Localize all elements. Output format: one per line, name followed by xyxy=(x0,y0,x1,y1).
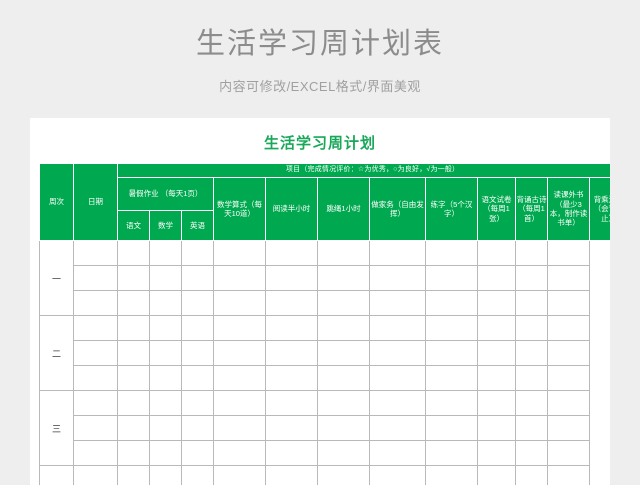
date-cell[interactable] xyxy=(74,441,118,466)
table-row xyxy=(40,291,611,316)
data-cell[interactable] xyxy=(426,466,478,485)
data-cell[interactable] xyxy=(266,416,318,441)
table-row xyxy=(40,366,611,391)
data-cell[interactable] xyxy=(370,266,426,291)
data-cell[interactable] xyxy=(426,291,478,316)
data-cell[interactable] xyxy=(478,366,516,391)
data-cell[interactable] xyxy=(182,466,214,485)
data-cell[interactable] xyxy=(426,441,478,466)
data-cell[interactable] xyxy=(214,316,266,341)
data-cell[interactable] xyxy=(516,416,548,441)
data-cell[interactable] xyxy=(118,291,150,316)
data-cell[interactable] xyxy=(516,316,548,341)
spreadsheet-sheet: 生活学习周计划 周次 日期 xyxy=(30,118,610,485)
header-col-chinese-paper: 语文试卷（每周1张） xyxy=(478,178,516,241)
header-sub-english: 英语 xyxy=(182,210,214,240)
page-title: 生活学习周计划表 xyxy=(0,26,640,64)
data-cell[interactable] xyxy=(478,441,516,466)
date-cell[interactable] xyxy=(74,341,118,366)
sheet-title: 生活学习周计划 xyxy=(30,118,610,163)
data-cell[interactable] xyxy=(478,241,516,266)
data-cell[interactable] xyxy=(318,241,370,266)
page-subtitle: 内容可修改/EXCEL格式/界面美观 xyxy=(0,76,640,95)
data-cell[interactable] xyxy=(370,316,426,341)
data-cell[interactable] xyxy=(214,391,266,416)
data-cell[interactable] xyxy=(370,416,426,441)
header-date: 日期 xyxy=(74,164,118,241)
date-cell[interactable] xyxy=(74,266,118,291)
data-cell[interactable] xyxy=(516,366,548,391)
data-cell[interactable] xyxy=(182,441,214,466)
data-cell[interactable] xyxy=(516,341,548,366)
data-cell[interactable] xyxy=(548,316,590,341)
data-cell[interactable] xyxy=(118,316,150,341)
table-row: 三 xyxy=(40,391,611,416)
data-cell[interactable] xyxy=(426,416,478,441)
data-cell[interactable] xyxy=(478,266,516,291)
data-cell[interactable] xyxy=(548,241,590,266)
header-group-homework: 暑假作业 （每天1页） xyxy=(118,178,214,211)
header-project-group: 项目（完成情况评价：☆为优秀，○为良好，√为一般） xyxy=(118,164,611,178)
data-cell[interactable] xyxy=(548,341,590,366)
data-cell[interactable] xyxy=(118,266,150,291)
data-cell[interactable] xyxy=(182,316,214,341)
header-col-math: 数学算式（每天10道） xyxy=(214,178,266,241)
data-cell[interactable] xyxy=(266,316,318,341)
data-cell[interactable] xyxy=(214,441,266,466)
data-cell[interactable] xyxy=(548,266,590,291)
table-row xyxy=(40,441,611,466)
date-cell[interactable] xyxy=(74,391,118,416)
data-cell[interactable] xyxy=(478,291,516,316)
data-cell[interactable] xyxy=(118,341,150,366)
data-cell[interactable] xyxy=(266,341,318,366)
data-cell[interactable] xyxy=(182,291,214,316)
data-cell[interactable] xyxy=(150,291,182,316)
data-cell[interactable] xyxy=(516,391,548,416)
header-col-reading: 阅读半小时 xyxy=(266,178,318,241)
header-col-rope: 跳绳1小时 xyxy=(318,178,370,241)
data-cell[interactable] xyxy=(318,416,370,441)
data-cell[interactable] xyxy=(370,341,426,366)
data-cell[interactable] xyxy=(118,416,150,441)
data-cell[interactable] xyxy=(182,266,214,291)
week-label: 二 xyxy=(40,316,74,391)
data-cell[interactable] xyxy=(478,466,516,485)
data-cell[interactable] xyxy=(150,441,182,466)
data-cell[interactable] xyxy=(150,241,182,266)
data-cell[interactable] xyxy=(548,416,590,441)
table-row xyxy=(40,416,611,441)
data-cell[interactable] xyxy=(118,241,150,266)
table-header-row-groups: 暑假作业 （每天1页） 数学算式（每天10道） 阅读半小时 跳绳1小时 做家务（… xyxy=(40,178,611,211)
data-cell[interactable] xyxy=(214,241,266,266)
data-cell[interactable] xyxy=(370,241,426,266)
header-col-chores: 做家务（自由发挥） xyxy=(370,178,426,241)
date-cell[interactable] xyxy=(74,466,118,485)
data-cell[interactable] xyxy=(266,466,318,485)
data-cell[interactable] xyxy=(318,266,370,291)
data-cell[interactable] xyxy=(214,366,266,391)
data-cell[interactable] xyxy=(548,366,590,391)
data-cell[interactable] xyxy=(426,341,478,366)
week-label: 一 xyxy=(40,241,74,316)
data-cell[interactable] xyxy=(548,441,590,466)
poster-header: 生活学习周计划表 内容可修改/EXCEL格式/界面美观 xyxy=(0,0,640,95)
data-cell[interactable] xyxy=(150,366,182,391)
data-cell[interactable] xyxy=(150,341,182,366)
data-cell[interactable] xyxy=(370,391,426,416)
data-cell[interactable] xyxy=(182,241,214,266)
header-sub-math: 数学 xyxy=(150,210,182,240)
header-col-multiplication: 背乘法表（会背为止） xyxy=(590,178,611,241)
data-cell[interactable] xyxy=(516,466,548,485)
data-cell[interactable] xyxy=(318,441,370,466)
data-cell[interactable] xyxy=(214,416,266,441)
data-cell[interactable] xyxy=(150,391,182,416)
table-row xyxy=(40,266,611,291)
data-cell[interactable] xyxy=(150,416,182,441)
date-cell[interactable] xyxy=(74,366,118,391)
data-cell[interactable] xyxy=(266,291,318,316)
date-cell[interactable] xyxy=(74,291,118,316)
data-cell[interactable] xyxy=(118,441,150,466)
data-cell[interactable] xyxy=(516,291,548,316)
data-cell[interactable] xyxy=(266,441,318,466)
data-cell[interactable] xyxy=(426,241,478,266)
data-cell[interactable] xyxy=(426,316,478,341)
header-week: 周次 xyxy=(40,164,74,241)
data-cell[interactable] xyxy=(426,266,478,291)
table-row: 二 xyxy=(40,316,611,341)
data-cell[interactable] xyxy=(548,291,590,316)
data-cell[interactable] xyxy=(182,341,214,366)
multiplication-merged-cell[interactable] xyxy=(590,241,611,485)
data-cell[interactable] xyxy=(266,366,318,391)
header-col-handwriting: 练字（5个汉字） xyxy=(426,178,478,241)
data-cell[interactable] xyxy=(214,341,266,366)
data-cell[interactable] xyxy=(214,291,266,316)
data-cell[interactable] xyxy=(266,266,318,291)
data-cell[interactable] xyxy=(478,341,516,366)
data-cell[interactable] xyxy=(516,266,548,291)
data-cell[interactable] xyxy=(182,416,214,441)
data-cell[interactable] xyxy=(516,441,548,466)
week-label: 四 xyxy=(40,466,74,485)
data-cell[interactable] xyxy=(318,316,370,341)
header-col-extra-books: 读课外书（最少3本，制作读书单） xyxy=(548,178,590,241)
date-cell[interactable] xyxy=(74,316,118,341)
weekly-plan-table: 周次 日期 项目（完成情况评价：☆为优秀，○为良好，√为一般） 暑假作业 （每天… xyxy=(39,163,610,485)
table-row: 四 xyxy=(40,466,611,485)
data-cell[interactable] xyxy=(118,391,150,416)
data-cell[interactable] xyxy=(478,416,516,441)
data-cell[interactable] xyxy=(150,266,182,291)
date-cell[interactable] xyxy=(74,241,118,266)
data-cell[interactable] xyxy=(370,466,426,485)
data-cell[interactable] xyxy=(370,366,426,391)
data-cell[interactable] xyxy=(214,266,266,291)
data-cell[interactable] xyxy=(426,391,478,416)
data-cell[interactable] xyxy=(370,291,426,316)
data-cell[interactable] xyxy=(478,391,516,416)
data-cell[interactable] xyxy=(182,391,214,416)
data-cell[interactable] xyxy=(318,291,370,316)
data-cell[interactable] xyxy=(118,466,150,485)
data-cell[interactable] xyxy=(548,466,590,485)
week-label: 三 xyxy=(40,391,74,466)
data-cell[interactable] xyxy=(318,341,370,366)
data-cell[interactable] xyxy=(150,316,182,341)
data-cell[interactable] xyxy=(214,466,266,485)
data-cell[interactable] xyxy=(426,366,478,391)
data-cell[interactable] xyxy=(318,366,370,391)
data-cell[interactable] xyxy=(118,366,150,391)
table-header-row-project: 周次 日期 项目（完成情况评价：☆为优秀，○为良好，√为一般） xyxy=(40,164,611,178)
data-cell[interactable] xyxy=(318,391,370,416)
data-cell[interactable] xyxy=(266,391,318,416)
date-cell[interactable] xyxy=(74,416,118,441)
header-sub-chinese: 语文 xyxy=(118,210,150,240)
data-cell[interactable] xyxy=(370,441,426,466)
data-cell[interactable] xyxy=(548,391,590,416)
header-col-poem: 背诵古诗（每周1首） xyxy=(516,178,548,241)
poster-page: 生活学习周计划表 内容可修改/EXCEL格式/界面美观 生活学习周计划 xyxy=(0,0,640,485)
data-cell[interactable] xyxy=(478,316,516,341)
data-cell[interactable] xyxy=(266,241,318,266)
table-row xyxy=(40,341,611,366)
data-cell[interactable] xyxy=(150,466,182,485)
table-row: 一 xyxy=(40,241,611,266)
data-cell[interactable] xyxy=(516,241,548,266)
data-cell[interactable] xyxy=(318,466,370,485)
data-cell[interactable] xyxy=(182,366,214,391)
